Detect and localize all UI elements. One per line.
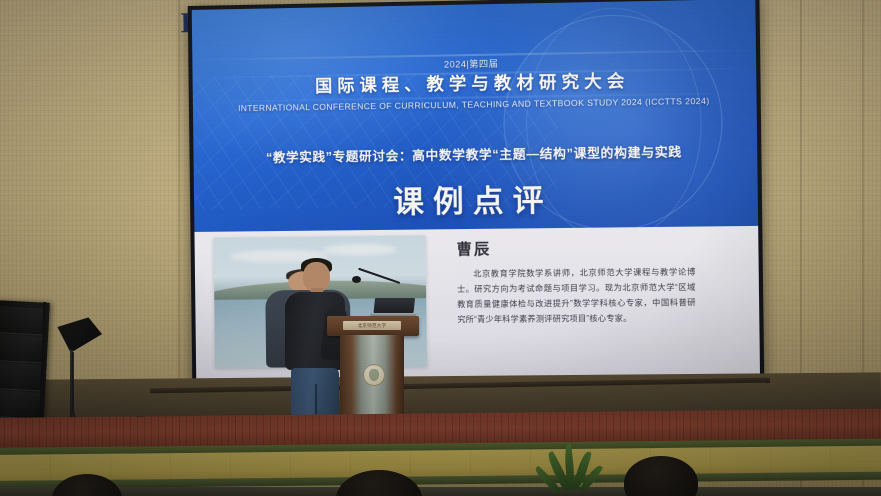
auditorium-photo-scene: 的自己 Be The Best I Can Be ! 2024|第四届 国际课程…	[0, 0, 881, 496]
photo-vignette	[0, 0, 881, 496]
